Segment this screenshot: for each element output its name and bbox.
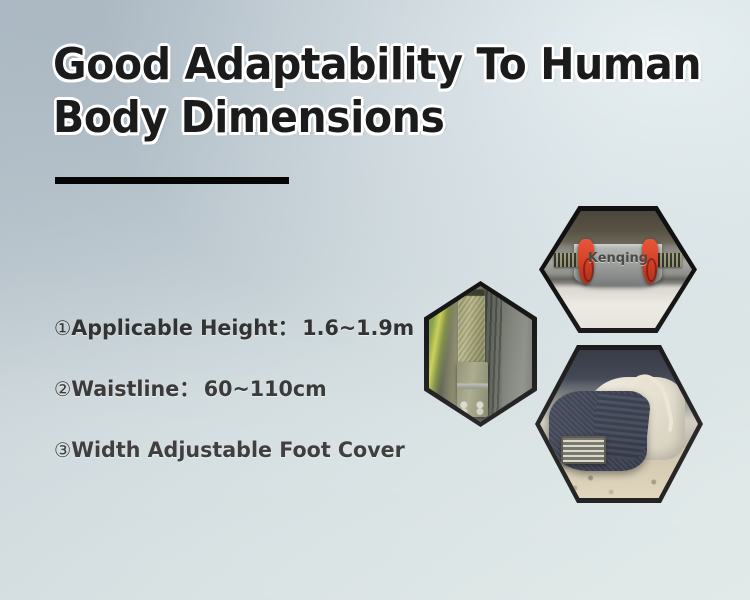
banner-stage: Good Adaptability To Human Body Dimensio… [0,0,750,600]
photo-image-foot-cover [540,350,698,498]
product-photo-foot-cover [535,345,703,503]
list-item: ②Waistline：60~110cm [54,359,419,420]
page-title-line-2: Body Dimensions [53,91,648,144]
title-accent-bar [55,177,289,184]
photo-image-back-plate: Kenqing [544,211,692,328]
list-item-marker: ② [54,377,71,401]
brand-label: Kenqing [544,251,692,266]
photo-frame-inner: Kenqing [544,211,692,328]
photo-frame-inner [429,286,532,422]
list-item-value [405,438,409,463]
product-photo-waist-adjuster [424,281,537,427]
photo-frame-inner [540,350,698,498]
page-title: Good Adaptability To Human Body Dimensio… [53,38,693,144]
list-item-marker: ③ [54,438,71,462]
list-item: ③Width Adjustable Foot Cover [54,420,419,481]
list-item-label: Applicable Height： [71,316,298,341]
list-item-value: 1.6~1.9m [298,316,414,341]
product-photo-back-plate: Kenqing [539,206,697,333]
list-item-value: 60~110cm [200,377,327,402]
list-item: ①Applicable Height：1.6~1.9m [54,298,419,359]
list-item-label: Width Adjustable Foot Cover [71,438,405,463]
list-item-label: Waistline： [71,377,200,402]
photo-image-waist-adjuster [429,286,532,422]
foot-cover-buckle [561,436,606,464]
specification-list: ①Applicable Height：1.6~1.9m ②Waistline：6… [54,298,434,481]
page-title-line-1: Good Adaptability To Human [53,38,648,91]
waist-strap [486,286,502,422]
list-item-marker: ① [54,316,71,340]
